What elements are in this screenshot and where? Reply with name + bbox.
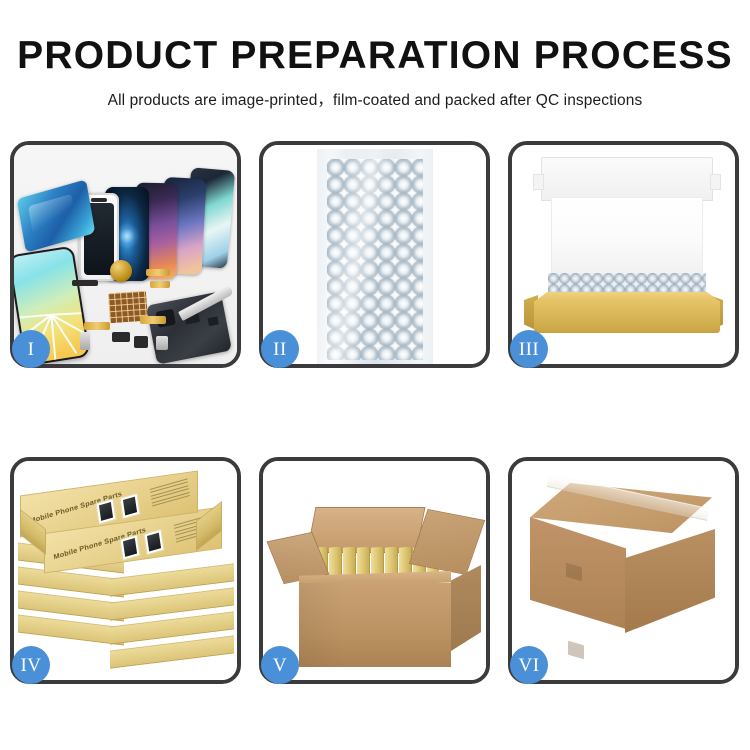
step-panel-1[interactable]: I — [10, 141, 241, 368]
step-panel-3[interactable]: III — [508, 141, 739, 368]
step-2-image — [263, 145, 486, 364]
step-panel-6[interactable]: VI — [508, 457, 739, 684]
step-1-image — [14, 145, 237, 364]
step-6-image — [512, 461, 735, 680]
small-part-icon — [134, 336, 148, 348]
retail-box-stack-icon: Mobile Phone Spare Parts Mobile Phone Sp… — [14, 461, 237, 680]
small-part-icon — [112, 332, 130, 342]
carton-hand-hole — [568, 641, 584, 660]
step-badge-5: V — [261, 646, 299, 684]
open-carton-icon — [299, 583, 451, 667]
flex-cable-icon — [84, 322, 110, 330]
step-badge-4: IV — [12, 646, 50, 684]
flex-cable-icon — [140, 316, 166, 324]
step-badge-2: II — [261, 330, 299, 368]
kraft-mailer-box-icon — [534, 301, 720, 333]
step-panel-5[interactable]: V — [259, 457, 490, 684]
step-panel-2[interactable]: II — [259, 141, 490, 368]
step-numeral: V — [273, 656, 287, 675]
step-5-image — [263, 461, 486, 680]
carton-side — [451, 565, 481, 651]
step-numeral: VI — [518, 656, 539, 675]
step-4-image: Mobile Phone Spare Parts Mobile Phone Sp… — [14, 461, 237, 680]
product-preparation-infographic: PRODUCT PREPARATION PROCESS All products… — [0, 0, 750, 750]
step-numeral: III — [519, 340, 539, 359]
flex-cable-icon — [146, 269, 170, 276]
step-badge-3: III — [510, 330, 548, 368]
step-numeral: I — [28, 340, 35, 359]
step-numeral: II — [273, 340, 287, 359]
small-part-icon — [72, 280, 98, 286]
mailer-lid-icon — [541, 157, 713, 201]
page-title: PRODUCT PREPARATION PROCESS — [0, 36, 750, 77]
step-badge-1: I — [12, 330, 50, 368]
header: PRODUCT PREPARATION PROCESS All products… — [0, 36, 750, 110]
page-subtitle: All products are image-printed，film-coat… — [0, 88, 750, 110]
sealed-carton-side — [625, 529, 715, 633]
flex-cable-icon — [150, 281, 170, 288]
plastic-sheen — [317, 149, 433, 364]
step-3-image — [512, 145, 735, 364]
battery-part-icon — [80, 332, 90, 350]
step-numeral: IV — [20, 656, 41, 675]
process-steps-grid: I II — [10, 141, 740, 741]
foam-padding-icon — [551, 197, 703, 275]
speaker-coil-icon — [110, 260, 132, 282]
bubble-wrap-bundle-icon — [317, 149, 433, 364]
step-panel-4[interactable]: Mobile Phone Spare Parts Mobile Phone Sp… — [10, 457, 241, 684]
small-part-icon — [156, 336, 168, 350]
step-badge-6: VI — [510, 646, 548, 684]
